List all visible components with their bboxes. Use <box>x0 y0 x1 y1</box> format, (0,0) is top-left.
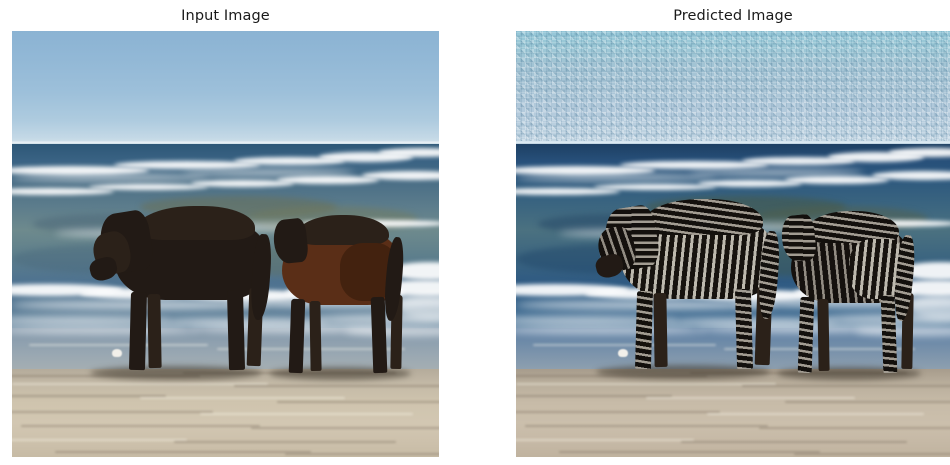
predicted-image-canvas <box>516 31 950 457</box>
input-image-canvas <box>12 31 439 457</box>
animal-zebra-right <box>785 211 924 387</box>
image-comparison-figure: Input Image <box>0 0 950 465</box>
panel-predicted: Predicted Image <box>516 0 950 465</box>
animal-horse-dark <box>97 206 276 386</box>
input-sky <box>12 31 439 143</box>
grid-artifact <box>516 31 950 143</box>
animal-zebra-left <box>603 201 785 387</box>
panel-title-input: Input Image <box>12 7 439 25</box>
panel-title-predicted: Predicted Image <box>516 7 950 25</box>
predicted-sky <box>516 31 950 143</box>
animal-horse-bay <box>277 215 414 387</box>
panel-input: Input Image <box>12 0 439 465</box>
